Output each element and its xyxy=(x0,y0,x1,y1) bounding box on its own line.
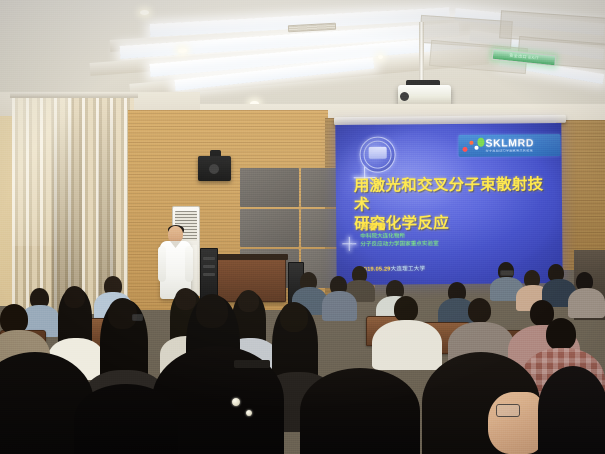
downlight xyxy=(378,55,383,59)
audience-head xyxy=(175,288,196,310)
audience-head xyxy=(468,298,491,323)
audience-head xyxy=(64,286,85,308)
foreground-person-silhouette xyxy=(538,366,605,454)
projector-mount-pole xyxy=(419,22,424,84)
projection-screen: SKLMRD 分子反应动力学国家重点实验室 用激光和交叉分子束散射技术 研究化学… xyxy=(335,123,562,285)
audience-head xyxy=(196,294,228,328)
wood-slat-wall xyxy=(556,120,605,270)
eyeglasses xyxy=(500,270,514,276)
rack-slot xyxy=(203,257,215,260)
foreground-person-face xyxy=(488,392,544,454)
downlight xyxy=(178,48,187,53)
audience-shoulders xyxy=(322,291,357,321)
presenter-arm-left xyxy=(158,246,166,282)
foreground-person-silhouette xyxy=(74,384,178,454)
hair-clip xyxy=(232,398,240,406)
presenter-arm-right xyxy=(185,246,193,282)
audience-head xyxy=(546,318,576,350)
downlight xyxy=(140,10,149,15)
rack-slot xyxy=(203,265,215,268)
speaker-cone xyxy=(209,164,219,174)
acoustic-panel xyxy=(240,209,299,248)
screen-vignette xyxy=(335,123,562,285)
audience-shoulders xyxy=(372,320,442,370)
audience-head xyxy=(238,290,259,312)
projector-lens xyxy=(400,92,409,101)
hair-barrette xyxy=(234,360,270,368)
hair-clip xyxy=(246,410,252,416)
curtain-rail xyxy=(10,92,138,98)
audience-head xyxy=(394,296,418,322)
eyeglasses xyxy=(496,404,520,417)
eyeglasses xyxy=(132,314,143,321)
audience-shoulders xyxy=(568,288,605,318)
curtain-shadow xyxy=(52,96,82,314)
lecture-hall-photo: 安全出口 EXIT xyxy=(0,0,605,454)
rack-slot xyxy=(203,273,215,276)
audience-head xyxy=(280,302,308,332)
acoustic-panel xyxy=(240,168,299,207)
wall-speaker xyxy=(198,156,231,181)
foreground-person-silhouette xyxy=(300,368,420,454)
